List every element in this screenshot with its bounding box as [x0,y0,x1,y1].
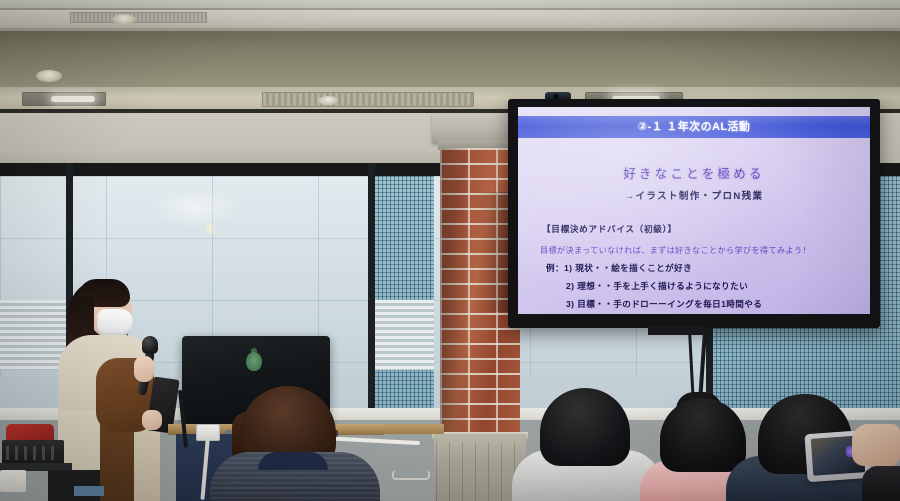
desk-surface-right [384,424,444,434]
presenter-hand-upper [134,356,154,382]
slide-example-item: 2) 理想・・手を上手く描けるようになりたい [566,280,748,292]
ceiling-light-fixture-left [22,92,106,106]
slide-note: 目標が決まっていなければ、まずは好きなことから学びを得てみよう！ [540,244,811,256]
ceiling-downlight-icon [318,96,338,105]
slide-title: ②-１ １年次のAL活動 [518,118,870,134]
ceiling-beam [0,31,900,89]
pillar-base-grooves [436,442,524,501]
blue-equipment-panel [74,486,104,496]
eyeglasses-on-sill [392,470,430,480]
slide-heading: 好きなことを極める [518,163,870,182]
audience-collar [258,452,328,470]
window-mullion [368,163,375,416]
ceiling-vent-grille [70,12,207,23]
ceiling-downlight-icon [112,14,136,25]
lecture-room-photo: ②-１ １年次のAL活動 好きなことを極める →イラスト制作・プロN残業 【目標… [0,0,900,501]
window-louver-panel [374,300,434,370]
flat-screen-tv[interactable]: ②-１ １年次のAL活動 好きなことを極める →イラスト制作・プロN残業 【目標… [508,99,880,328]
window-glare [150,188,240,228]
apple-logo-icon [246,352,262,371]
audience-hand-holding-phone [852,424,900,466]
tv-screen[interactable]: ②-１ １年次のAL活動 好きなことを極める →イラスト制作・プロN残業 【目標… [518,107,870,314]
slide-example-item: 3) 目標・・手のドローーイングを毎日1時間やる [566,298,762,310]
pillar-shaded-face [440,148,466,438]
face-mask-icon [97,309,133,337]
slide-subheading: →イラスト制作・プロN残業 [518,188,870,202]
ceiling-air-diffuser [262,92,474,107]
audience-member-body [862,466,900,501]
microphone-icon[interactable] [142,336,158,354]
presenter-hand-lower [142,410,162,430]
ceiling-downlight-icon [36,70,62,82]
window-light-spot [205,222,215,236]
slide-section-label: 【目標決めアドバイス（初級）】 [542,223,677,235]
window-louver-panel [0,300,66,370]
tv-wall-bracket [648,326,708,335]
white-equipment-box [0,470,26,492]
mixer-knobs[interactable] [6,446,60,460]
slide-example-item: 例：1) 現状・・絵を描くことが好き [546,262,692,274]
window-mesh-panel [374,176,434,408]
